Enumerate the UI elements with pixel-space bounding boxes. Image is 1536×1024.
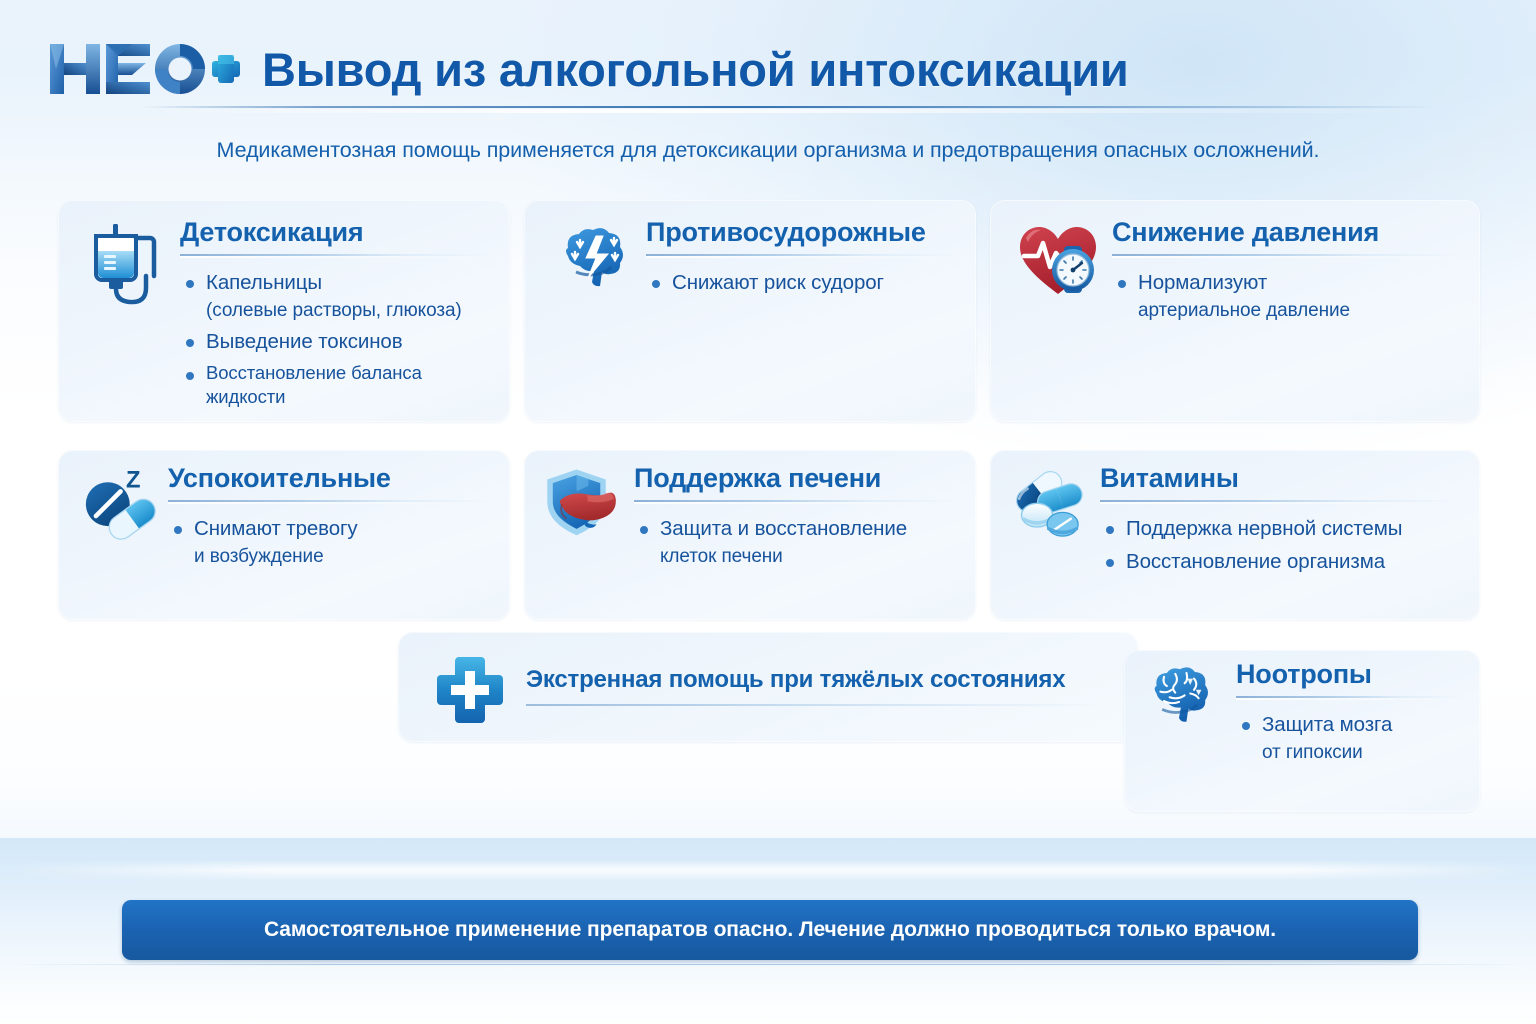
- card-title: Успокоительные: [168, 464, 492, 493]
- bullet-text: Восстановление баланса жидкости: [206, 362, 422, 408]
- bullet-text: Снижают риск судорог: [672, 271, 884, 294]
- bullet-text: Поддержка нервной системы: [1126, 517, 1402, 540]
- brain-icon: [1136, 658, 1222, 744]
- bullet-list: Снимают тревогу и возбуждение: [168, 515, 492, 569]
- bullet-subtext: клеток печени: [660, 544, 958, 569]
- iv-drip-icon: [80, 218, 172, 310]
- list-item: Защита мозга от гипоксии: [1236, 711, 1462, 765]
- pills-capsules-icon: [1006, 464, 1090, 548]
- title-divider-gloss: [634, 502, 958, 504]
- card-title: Поддержка печени: [634, 464, 958, 493]
- card-blood-pressure[interactable]: Снижение давления Нормализуют артериальн…: [990, 200, 1480, 422]
- page-header: Вывод из алкогольной интоксикации: [46, 26, 1490, 112]
- footer-warning-text: Самостоятельное применение препаратов оп…: [264, 918, 1276, 942]
- bullet-subtext: и возбуждение: [194, 544, 492, 569]
- bullet-text: Снимают тревогу: [194, 517, 358, 540]
- list-item: Защита и восстановление клеток печени: [634, 515, 958, 569]
- title-divider-gloss: [168, 502, 492, 504]
- page-title: Вывод из алкогольной интоксикации: [262, 46, 1129, 93]
- medical-cross-icon: [434, 654, 506, 726]
- card-nootropics[interactable]: Ноотропы Защита мозга от гипоксии: [1124, 650, 1480, 812]
- card-title: Противосудорожные: [646, 218, 958, 247]
- emergency-divider: [526, 704, 1106, 706]
- sleeping-pill-icon: Z: [74, 464, 158, 548]
- list-item: Восстановление организма: [1100, 548, 1462, 575]
- bullet-subtext: (солевые растворы, глюкоза): [206, 298, 492, 323]
- list-item: Нормализуют артериальное давление: [1112, 269, 1462, 323]
- card-title: Ноотропы: [1236, 660, 1462, 689]
- card-sedatives[interactable]: Z Успокоительные Снимают тревогу и возбу…: [58, 450, 510, 620]
- list-item: Поддержка нервной системы: [1100, 515, 1462, 542]
- bullet-text: Защита и восстановление: [660, 517, 907, 540]
- card-anticonvulsants[interactable]: Противосудорожные Снижают риск судорог: [524, 200, 976, 422]
- bullet-list: Поддержка нервной системы Восстановление…: [1100, 515, 1462, 575]
- title-divider-gloss: [646, 256, 958, 258]
- bullet-list: Защита мозга от гипоксии: [1236, 711, 1462, 765]
- list-item: Снижают риск судорог: [646, 269, 958, 296]
- bullet-list: Снижают риск судорог: [646, 269, 958, 296]
- title-divider-gloss: [180, 256, 492, 258]
- header-divider-gloss: [150, 109, 1430, 113]
- card-title: Детоксикация: [180, 218, 492, 247]
- neo-plus-logo-icon: [46, 38, 242, 100]
- card-title: Витамины: [1100, 464, 1462, 493]
- header-divider: [140, 106, 1440, 108]
- card-title: Снижение давления: [1112, 218, 1462, 247]
- bullet-text: Капельницы: [206, 271, 322, 294]
- bullet-text: Выведение токсинов: [206, 330, 403, 353]
- list-item: Восстановление баланса жидкости: [180, 361, 492, 411]
- title-divider-gloss: [1236, 698, 1462, 700]
- bottom-hairline: [0, 964, 1536, 965]
- bullet-text: Нормализуют: [1138, 271, 1267, 294]
- heart-pressure-gauge-icon: [1012, 218, 1104, 310]
- shield-liver-icon: [540, 464, 624, 548]
- bullet-text: Защита мозга: [1262, 713, 1392, 736]
- list-item: Капельницы (солевые растворы, глюкоза): [180, 269, 492, 323]
- card-liver-support[interactable]: Поддержка печени Защита и восстановление…: [524, 450, 976, 620]
- list-item: Выведение токсинов: [180, 328, 492, 355]
- bullet-list: Защита и восстановление клеток печени: [634, 515, 958, 569]
- bullet-subtext: артериальное давление: [1138, 298, 1462, 323]
- bullet-list: Нормализуют артериальное давление: [1112, 269, 1462, 323]
- bullet-list: Капельницы (солевые растворы, глюкоза) В…: [180, 269, 492, 410]
- list-item: Снимают тревогу и возбуждение: [168, 515, 492, 569]
- bullet-text: Восстановление организма: [1126, 550, 1385, 573]
- brain-lightning-icon: [546, 218, 638, 310]
- svg-text:Z: Z: [126, 468, 141, 494]
- emergency-label: Экстренная помощь при тяжёлых состояниях: [526, 666, 1065, 694]
- footer-warning-banner: Самостоятельное применение препаратов оп…: [122, 900, 1418, 960]
- card-emergency-help[interactable]: Экстренная помощь при тяжёлых состояниях: [398, 632, 1138, 742]
- card-vitamins[interactable]: Витамины Поддержка нервной системы Восст…: [990, 450, 1480, 620]
- card-detox[interactable]: Детоксикация Капельницы (солевые раствор…: [58, 200, 510, 422]
- bullet-subtext: от гипоксии: [1262, 740, 1462, 765]
- title-divider-gloss: [1100, 502, 1462, 504]
- bottom-band-gloss: [0, 860, 1536, 882]
- infographic-page: Вывод из алкогольной интоксикации Медика…: [0, 0, 1536, 1024]
- page-subtitle: Медикаментозная помощь применяется для д…: [0, 138, 1536, 163]
- title-divider-gloss: [1112, 256, 1462, 258]
